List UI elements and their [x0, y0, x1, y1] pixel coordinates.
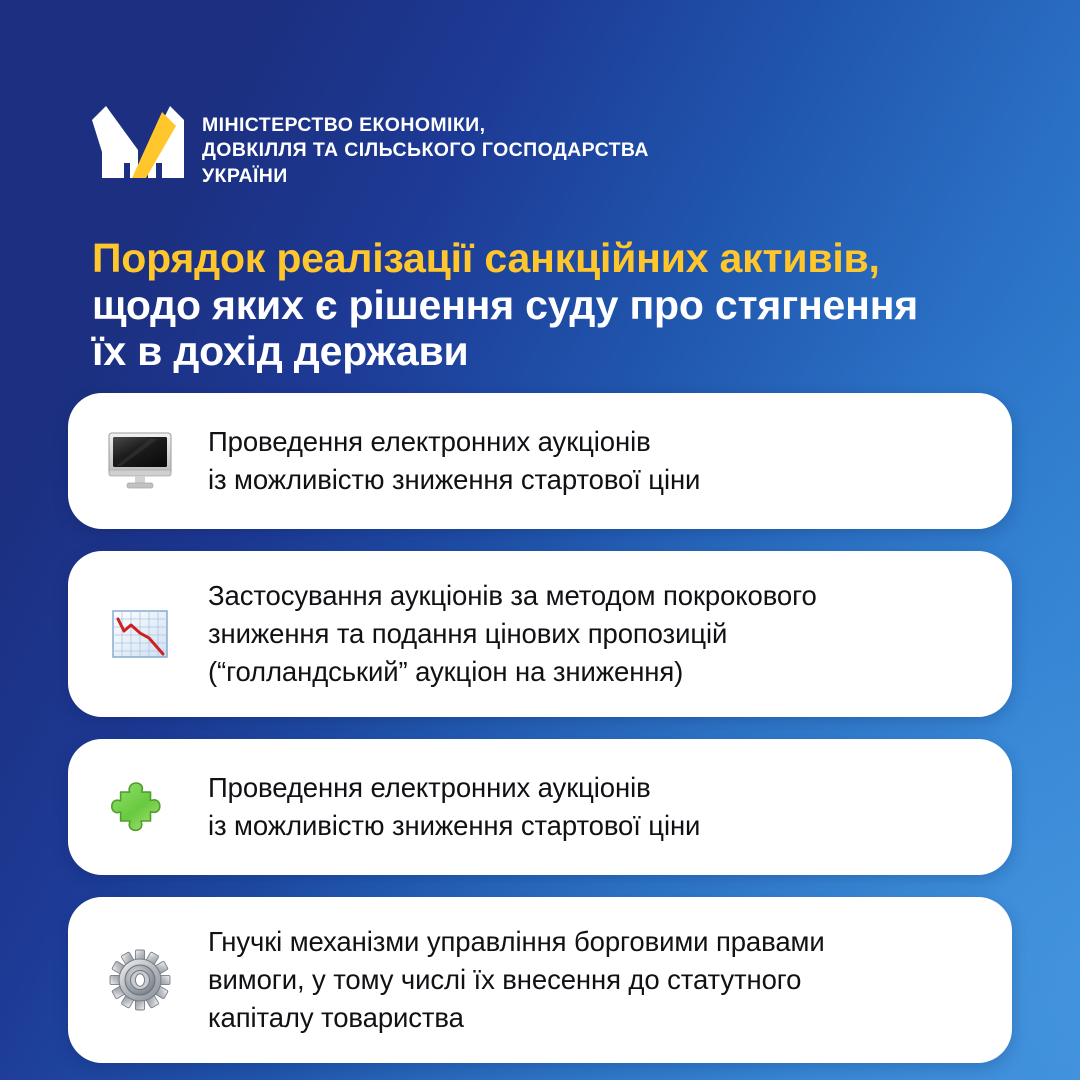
list-item-label: Проведення електронних аукціонів із можл… — [208, 423, 700, 499]
measures-list: Проведення електронних аукціонів із можл… — [68, 393, 1012, 1063]
list-item: Проведення електронних аукціонів із можл… — [68, 739, 1012, 875]
list-item: Застосування аукціонів за методом покрок… — [68, 551, 1012, 717]
list-item-label: Гнучкі механізми управління борговими пр… — [208, 923, 825, 1037]
ministry-branding: Міністерство економіки, довкілля та сіль… — [92, 106, 649, 189]
desktop-monitor-icon — [98, 426, 182, 496]
ministry-name: Міністерство економіки, довкілля та сіль… — [202, 106, 649, 189]
list-item-label: Застосування аукціонів за методом покрок… — [208, 577, 817, 691]
gear-icon — [98, 945, 182, 1015]
list-item: Гнучкі механізми управління борговими пр… — [68, 897, 1012, 1063]
infographic-poster: Міністерство економіки, довкілля та сіль… — [0, 0, 1080, 1080]
ministry-m-logo-icon — [92, 106, 184, 184]
title-line-2: щодо яких є рішення суду про стягнення — [92, 282, 1022, 328]
title-line-3: їх в дохід держави — [92, 328, 1022, 374]
title-line-1: Порядок реалізації санкційних активів, — [92, 235, 1022, 281]
list-item: Проведення електронних аукціонів із можл… — [68, 393, 1012, 529]
page-title: Порядок реалізації санкційних активів, щ… — [92, 235, 1022, 374]
puzzle-piece-icon — [98, 772, 182, 842]
chart-decreasing-icon — [98, 599, 182, 669]
list-item-label: Проведення електронних аукціонів із можл… — [208, 769, 700, 845]
